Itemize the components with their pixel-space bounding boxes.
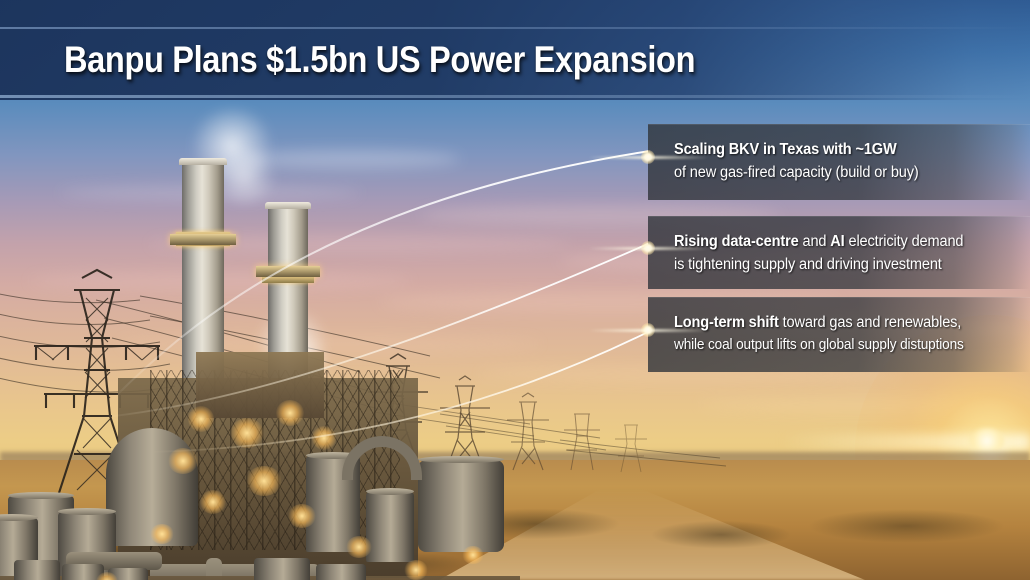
callout-1-line-1: Scaling BKV in Texas with ~1GW (674, 138, 1009, 161)
callout-2-line-1-bold2: AI (830, 233, 844, 250)
callout-2-line-1-regular: electricity demand (845, 233, 964, 250)
page-title: Banpu Plans $1.5bn US Power Expansion (64, 37, 695, 83)
callout-2-line-2: is tightening supply and driving investm… (674, 253, 1009, 276)
lower-tank-1 (14, 560, 60, 580)
callout-2-line-1: Rising data-centre and AI electricity de… (674, 230, 1009, 253)
callout-box-2[interactable]: Rising data-centre and AI electricity de… (648, 216, 1030, 289)
plant-light (462, 546, 484, 564)
plant-light (188, 406, 214, 432)
plant-light (168, 448, 198, 474)
callout-box-1[interactable]: Scaling BKV in Texas with ~1GW of new ga… (648, 124, 1030, 200)
header-rule-top (0, 27, 1030, 29)
plant-light (200, 490, 226, 514)
callout-box-3[interactable]: Long-term shift toward gas and renewable… (648, 297, 1030, 372)
callout-2-line-1-bold: Rising data-centre (674, 233, 799, 250)
callout-3-line-1-regular: toward gas and renewables, (779, 314, 961, 331)
callout-2-line-1-mid: and (799, 233, 831, 250)
callout-3-line-1-bold: Long-term shift (674, 314, 779, 331)
plant-light (150, 524, 174, 544)
lower-tank-5 (316, 564, 366, 580)
header-rule-bottom (0, 95, 1030, 98)
transmission-pylon-far-2 (612, 418, 650, 474)
plant-light (230, 418, 264, 448)
callout-1-line-1-bold: Scaling BKV in Texas with ~1GW (674, 141, 897, 158)
stack-right-platform (256, 266, 320, 277)
boiler-house (196, 352, 324, 418)
gas-fired-power-plant (0, 160, 560, 580)
plant-light (288, 504, 316, 528)
transmission-pylon-far-1 (560, 406, 604, 472)
horizontal-vessel (362, 512, 514, 566)
callout-1-line-2: of new gas-fired capacity (build or buy) (674, 161, 1009, 184)
lower-tank-4 (254, 558, 310, 580)
callout-3-line-2: while coal output lifts on global supply… (674, 334, 1009, 357)
callout-3-line-1: Long-term shift toward gas and renewable… (674, 311, 1009, 334)
infographic-canvas: Banpu Plans $1.5bn US Power Expansion Sc… (0, 0, 1030, 580)
plant-light (276, 400, 304, 426)
plant-light (246, 466, 282, 496)
plant-light (312, 426, 336, 450)
header-band: Banpu Plans $1.5bn US Power Expansion (0, 0, 1030, 100)
stack-left-platform (170, 234, 236, 245)
plant-light (346, 536, 372, 558)
plant-light (404, 560, 428, 580)
